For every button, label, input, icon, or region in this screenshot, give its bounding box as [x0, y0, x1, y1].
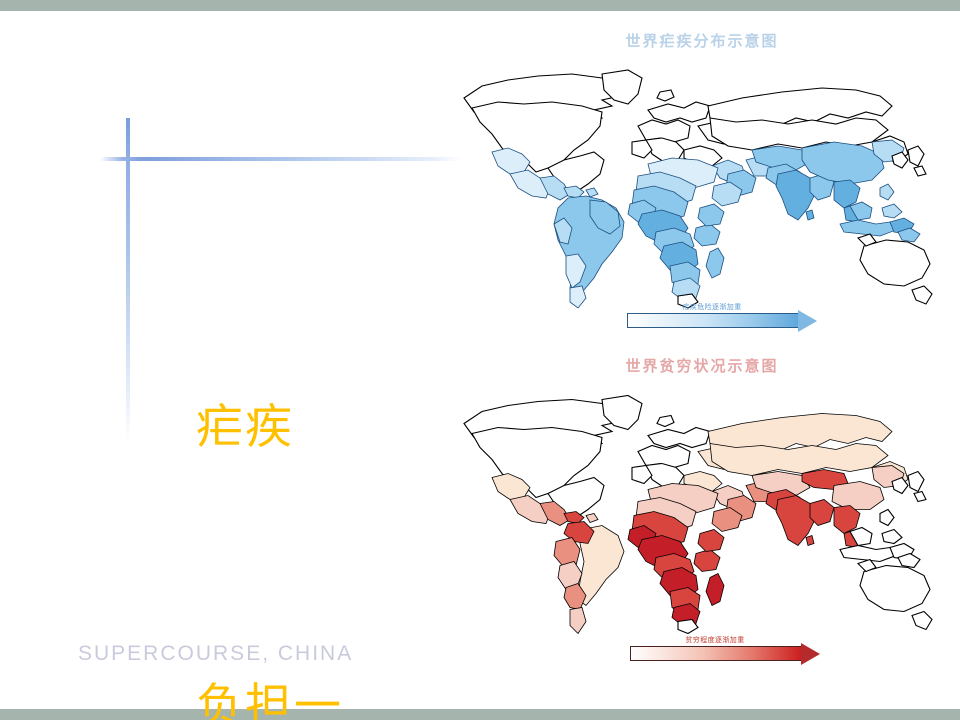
- poverty-world-map: .p0{fill:#ffffff;stroke:#000;stroke-widt…: [452, 379, 952, 644]
- malaria-legend-label: 疟疾危险逐渐加重: [627, 302, 797, 312]
- title-line-1: 疟疾: [196, 382, 426, 475]
- slide-canvas: 疟疾 负担一 贫穷 SUPERCOURSE, CHINA 世界疟疾分布示意图 .…: [0, 0, 960, 720]
- poverty-map-title: 世界贫穷状况示意图: [452, 355, 952, 376]
- poverty-legend-arrow-icon: [801, 643, 820, 665]
- malaria-legend-arrow-icon: [798, 310, 817, 332]
- title-line-2: 负担一: [196, 661, 426, 720]
- malaria-legend: 疟疾危险逐渐加重: [627, 302, 837, 338]
- poverty-legend-label: 贫穷程度逐渐加重: [630, 635, 800, 645]
- poverty-legend: 贫穷程度逐渐加重: [630, 635, 840, 671]
- poverty-map-panel: 世界贫穷状况示意图 .p0{fill:#ffffff;stroke:#000;s…: [452, 355, 952, 685]
- decorative-cross-horizontal-line: [100, 157, 462, 161]
- top-band: [0, 0, 960, 11]
- bottom-band: [0, 709, 960, 720]
- malaria-map-title: 世界疟疾分布示意图: [452, 30, 952, 51]
- decorative-cross-vertical-line: [126, 118, 130, 443]
- footer-credit: SUPERCOURSE, CHINA: [78, 642, 353, 666]
- malaria-world-map: .ln{fill:none;stroke:#000;stroke-width:1…: [452, 56, 952, 316]
- malaria-legend-gradient-bar: [627, 313, 799, 328]
- poverty-legend-gradient-bar: [630, 646, 802, 661]
- malaria-map-panel: 世界疟疾分布示意图 .ln{fill:none;stroke:#000;stro…: [452, 30, 952, 350]
